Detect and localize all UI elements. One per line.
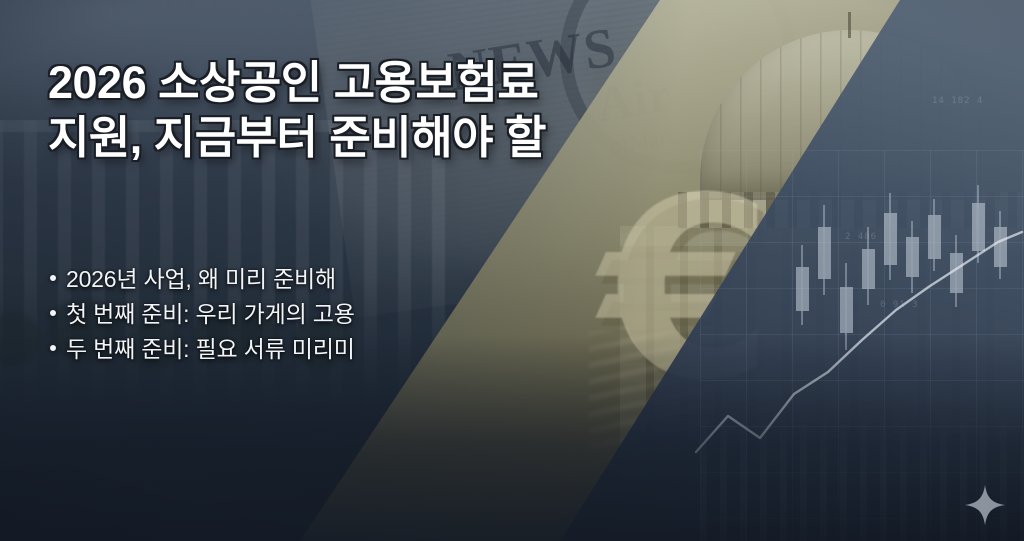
euro-currency-symbol: € — [600, 190, 830, 420]
chart-gridlines — [700, 150, 1024, 541]
assembly-dome — [700, 30, 1000, 200]
bullet-list: 2026년 사업, 왜 미리 준비해 첫 번째 준비: 우리 가게의 고용 두 … — [50, 262, 610, 367]
thumbnail-canvas: NEWS Air ofMarc € — [0, 0, 1024, 541]
sparkle-star-icon — [965, 485, 1005, 525]
list-item-label: 2026년 사업, 왜 미리 준비해 — [66, 262, 336, 297]
ticker-value-3: 0 91 3 — [880, 300, 919, 310]
list-item-label: 두 번째 준비: 필요 서류 미리미 — [66, 332, 355, 367]
assembly-dome-ribs — [700, 30, 1000, 200]
page-title-line-1: 2026 소상공인 고용보험료 — [48, 56, 668, 111]
rising-trend-line — [690, 190, 1024, 470]
assembly-dome-drum — [678, 192, 1022, 228]
list-item-label: 첫 번째 준비: 우리 가게의 고용 — [66, 297, 355, 332]
list-item: 첫 번째 준비: 우리 가게의 고용 — [50, 297, 610, 332]
page-title: 2026 소상공인 고용보험료 지원, 지금부터 준비해야 할 — [48, 56, 668, 166]
assembly-dome-spire — [848, 12, 851, 38]
list-item: 2026년 사업, 왜 미리 준비해 — [50, 262, 610, 297]
ticker-value-1: 14 182 4 — [932, 96, 983, 106]
bullet-dot-icon — [50, 345, 56, 351]
page-title-line-2: 지원, 지금부터 준비해야 할 — [48, 111, 668, 166]
list-item: 두 번째 준비: 필요 서류 미리미 — [50, 332, 610, 367]
assembly-building-facade — [620, 226, 1024, 526]
bullet-dot-icon — [50, 275, 56, 281]
coin-stack-backdrop — [588, 330, 798, 470]
candlestick-chart-overlay — [790, 175, 1024, 425]
bullet-dot-icon — [50, 310, 56, 316]
ticker-value-2: 2 486 — [845, 232, 877, 242]
